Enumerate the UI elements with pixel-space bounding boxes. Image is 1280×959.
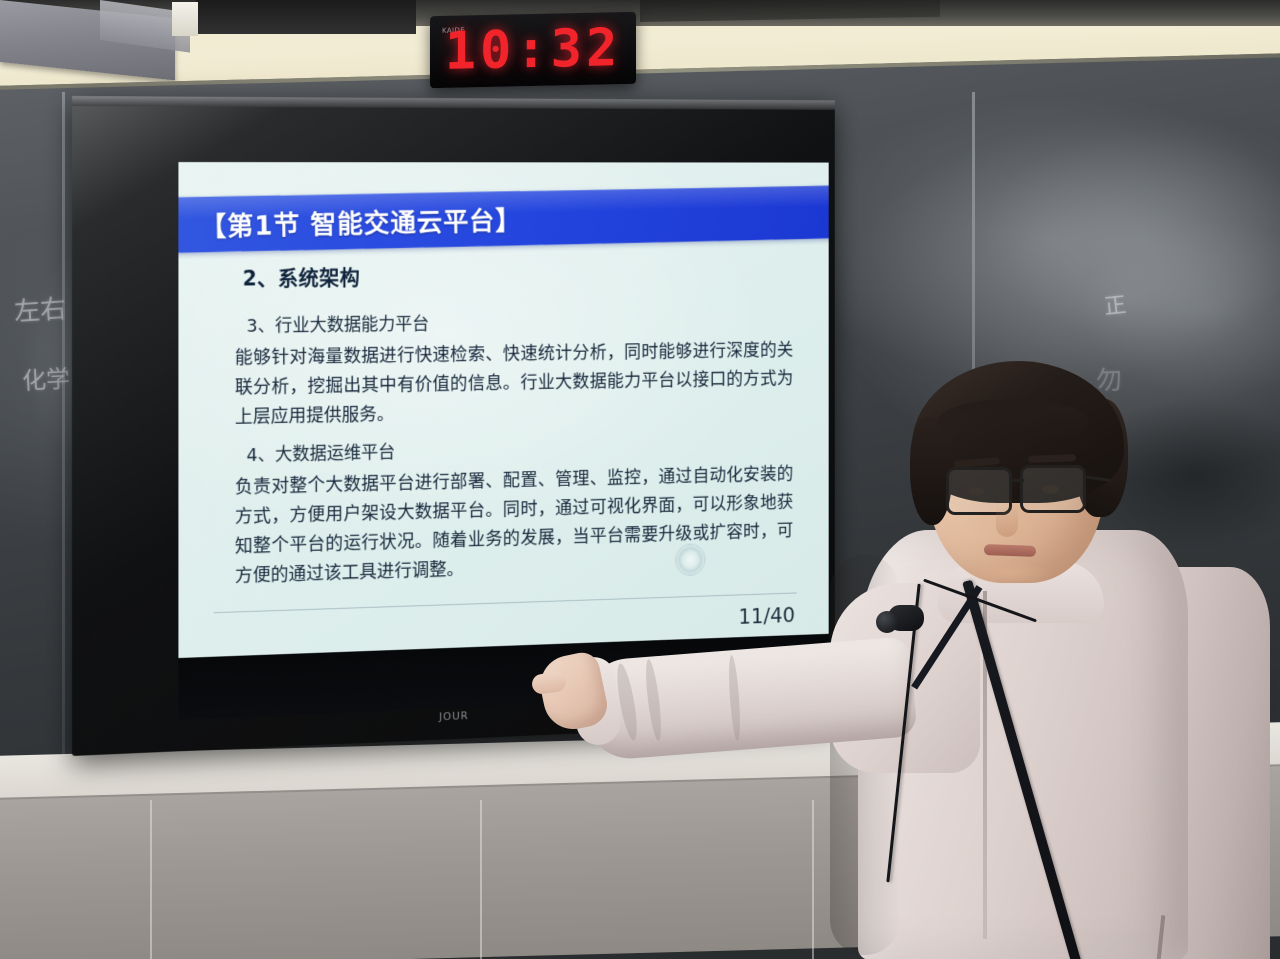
- presenter: [770, 355, 1280, 959]
- presenter-hair-fringe: [938, 399, 1088, 443]
- eyeglasses-lens-right: [1020, 465, 1086, 513]
- slide-block-body: 负责对整个大数据平台进行部署、配置、管理、监控，通过自动化安装的方式，方便用户架…: [235, 460, 793, 591]
- lapel-microphone-icon: [876, 611, 898, 633]
- slide-block-body: 能够针对海量数据进行快速检索、快速统计分析，同时能够进行深度的关联分析，挖掘出其…: [235, 336, 793, 432]
- eyeglasses-bridge: [1010, 479, 1024, 482]
- slide-title-banner: 【第1节 智能交通云平台】: [178, 185, 828, 253]
- presenter-nose: [996, 505, 1018, 537]
- slide-block: 4、大数据运维平台 负责对整个大数据平台进行部署、配置、管理、监控，通过自动化安…: [235, 430, 793, 592]
- blackboard-seam-left: [62, 92, 65, 782]
- tile-grout-line: [150, 800, 152, 959]
- ceiling-dark-panel: [196, 0, 416, 34]
- slide-block-heading: 3、行业大数据能力平台: [247, 306, 794, 338]
- classroom-scene: 左右 化学 正 勿 KAIDE 10:32 【第1节 智能交通云平台】 2、系统…: [0, 0, 1280, 959]
- presenter-mouth: [984, 544, 1036, 557]
- clock-time-display: 10:32: [430, 18, 636, 82]
- slide-section-heading: 2、系统架构: [243, 259, 794, 292]
- presenter-chin-highlight: [966, 561, 1052, 585]
- slide-banner-title: 【第1节 智能交通云平台】: [200, 199, 522, 244]
- display-screen[interactable]: 【第1节 智能交通云平台】 2、系统架构 3、行业大数据能力平台 能够针对海量数…: [178, 162, 828, 719]
- mount-white-plate: [172, 2, 198, 36]
- slide-block: 3、行业大数据能力平台 能够针对海量数据进行快速检索、快速统计分析，同时能够进行…: [235, 306, 793, 432]
- display-brand-logo: JOUR: [439, 709, 469, 723]
- tile-grout-line: [480, 800, 482, 959]
- slide-body: 2、系统架构 3、行业大数据能力平台 能够针对海量数据进行快速检索、快速统计分析…: [178, 249, 828, 658]
- presentation-slide[interactable]: 【第1节 智能交通云平台】 2、系统架构 3、行业大数据能力平台 能够针对海量数…: [178, 162, 828, 658]
- digital-wall-clock: KAIDE 10:32: [430, 12, 636, 88]
